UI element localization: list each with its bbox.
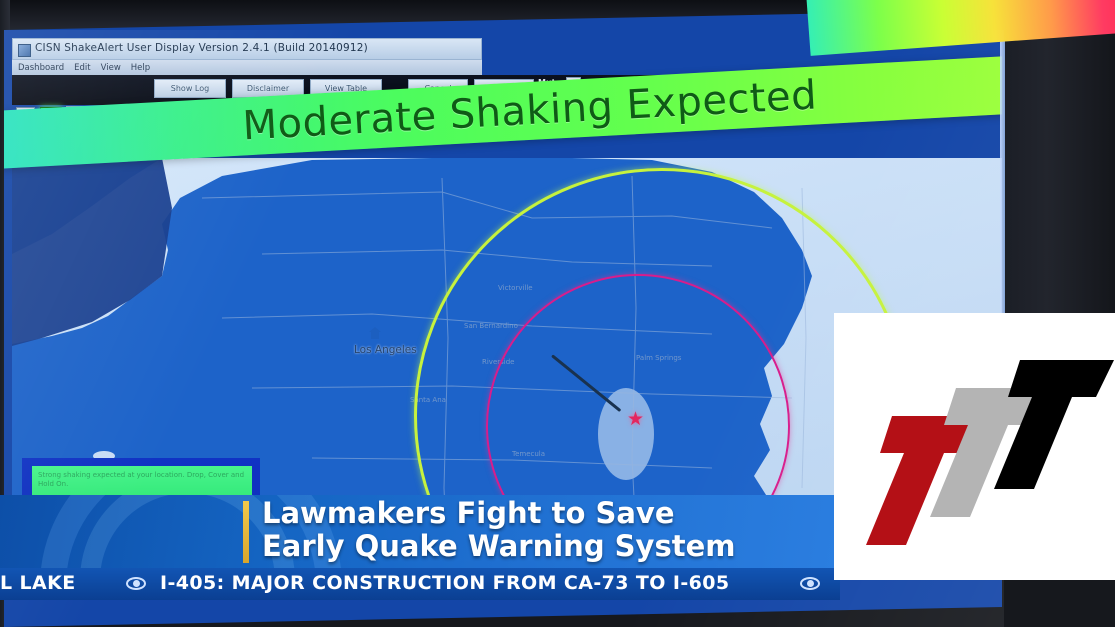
app-menubar[interactable]: Dashboard Edit View Help	[12, 60, 482, 75]
ttt-logo-glyphs	[834, 313, 1115, 580]
news-ticker: L LAKE I-405: MAJOR CONSTRUCTION FROM CA…	[0, 568, 840, 600]
headline-line-1: Lawmakers Fight to Save	[262, 496, 675, 530]
ttt-logo	[834, 313, 1115, 580]
home-marker-icon	[368, 326, 382, 340]
headline-accent-bar	[243, 501, 249, 563]
cbs-eye-icon	[800, 577, 820, 590]
app-titlebar[interactable]: CISN ShakeAlert User Display Version 2.4…	[12, 38, 482, 60]
app-title: CISN ShakeAlert User Display Version 2.4…	[35, 42, 368, 54]
menu-item-view[interactable]: View	[101, 63, 121, 73]
tv-screenshot-root: San Bernardino Riverside Palm Springs Vi…	[0, 0, 1115, 627]
menu-item-edit[interactable]: Edit	[74, 63, 90, 73]
monitor-bezel-right	[1002, 0, 1115, 330]
menu-item-help[interactable]: Help	[131, 63, 150, 73]
ticker-left-text: L LAKE	[0, 572, 76, 594]
menu-item-dashboard[interactable]: Dashboard	[18, 63, 64, 73]
news-lower-third: Lawmakers Fight to Save Early Quake Warn…	[0, 495, 840, 568]
screen-right-edge	[1000, 4, 1005, 324]
headline-line-2: Early Quake Warning System	[262, 529, 735, 563]
map-city-label: Los Angeles	[354, 344, 417, 356]
ticker-main-text: I-405: MAJOR CONSTRUCTION FROM CA-73 TO …	[160, 572, 729, 594]
toolbar-button-show-log[interactable]: Show Log	[154, 79, 226, 98]
star-icon: ★	[626, 410, 645, 429]
cbs-eye-icon	[126, 577, 146, 590]
app-window-icon	[18, 44, 31, 57]
alert-status-text: Strong shaking expected at your location…	[38, 471, 248, 489]
